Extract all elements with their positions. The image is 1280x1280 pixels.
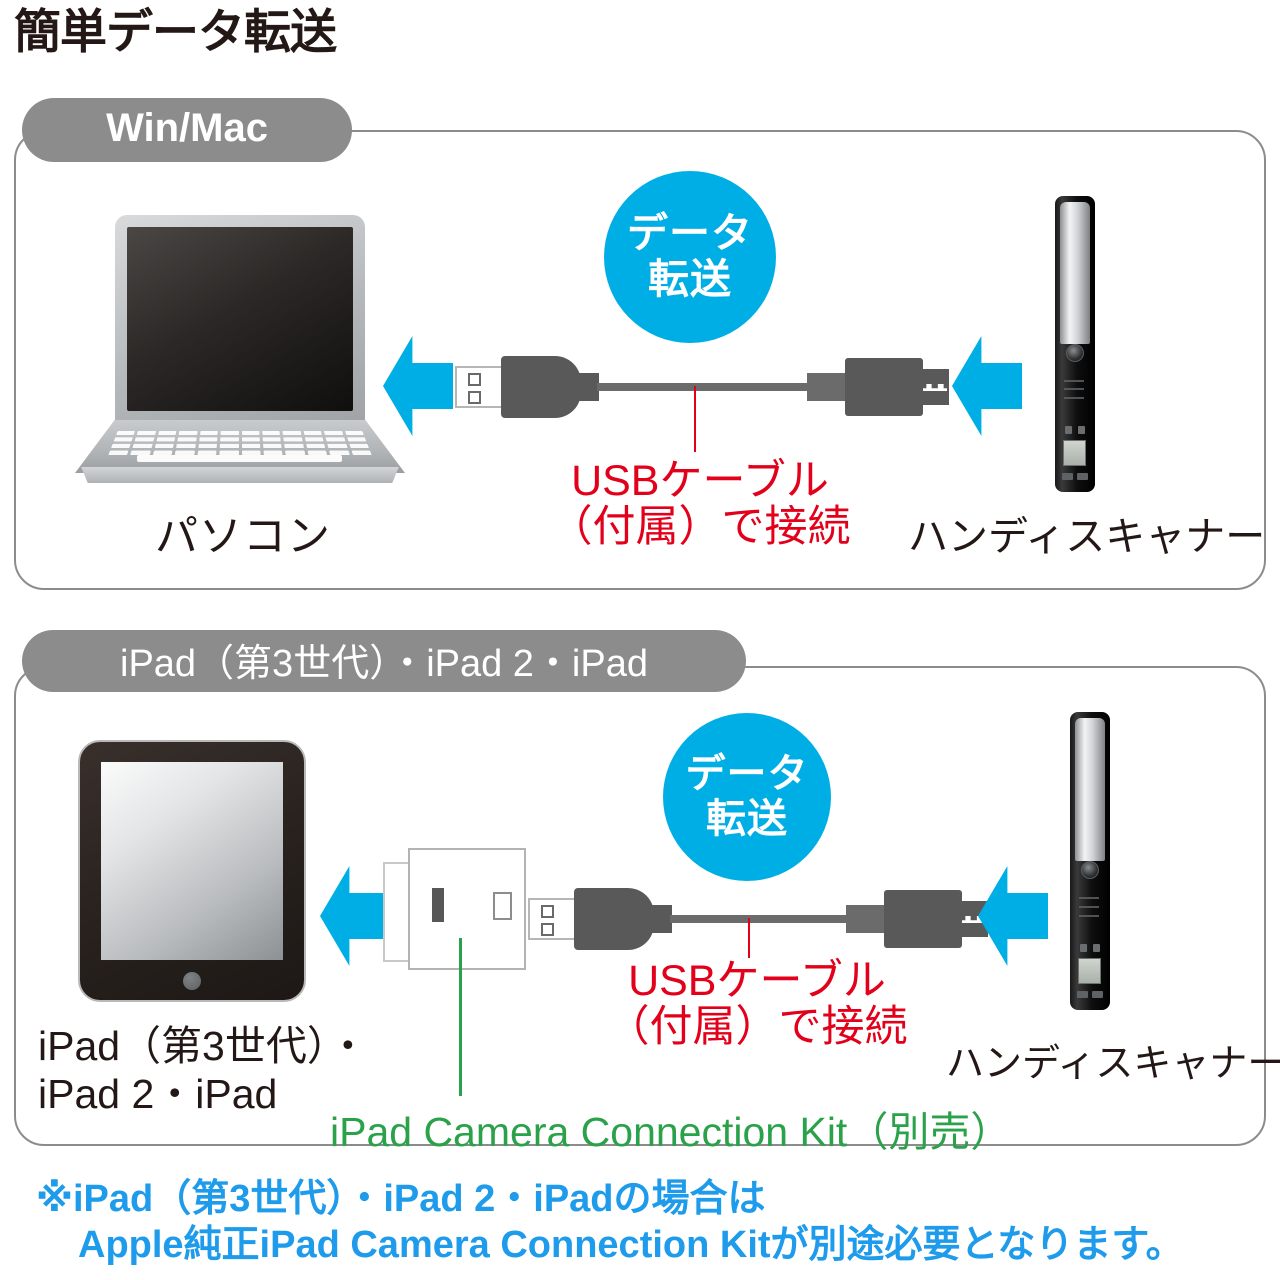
badge-ipad: iPad（第3世代）・iPad 2・iPad	[22, 630, 746, 692]
scanner-scan-button	[1081, 861, 1099, 879]
data-transfer-badge: データ 転送	[604, 171, 776, 343]
usb-a-connector-body	[501, 356, 581, 418]
micro-usb-body	[884, 890, 962, 948]
cable-wire	[670, 915, 860, 923]
keyboard-row	[114, 437, 367, 441]
scanner-lcd-display	[1063, 440, 1086, 466]
data-transfer-line2: 転送	[648, 257, 732, 303]
scanner-scan-button	[1066, 344, 1084, 362]
ipad-home-button	[183, 972, 201, 990]
data-transfer-line2: 転送	[706, 797, 788, 842]
usb-a-connector-neck	[650, 905, 672, 933]
cable-leader-line	[694, 386, 696, 452]
usb-a-connector-tip	[455, 366, 503, 408]
label-handy-scanner-win: ハンディスキャナー	[908, 504, 1265, 562]
cck-usb-port	[493, 892, 512, 920]
usb-cable-note-line2: （付属）で接続	[545, 504, 855, 550]
label-pc: パソコン	[155, 502, 331, 564]
scanner-bar-button	[1077, 473, 1088, 480]
ipad-screen	[101, 762, 283, 960]
diagram-canvas: 簡単データ転送 Win/Mac	[0, 0, 1280, 1280]
scanner-mini-button	[1065, 426, 1072, 434]
usb-a-connector-neck	[577, 373, 599, 401]
laptop-screen	[127, 227, 353, 411]
footnote: ※iPad（第3世代）・iPad 2・iPadの場合は Apple純正iPad …	[36, 1176, 1184, 1269]
data-transfer-badge: データ 転送	[663, 713, 831, 881]
footnote-line2: Apple純正iPad Camera Connection Kitが別途必要とな…	[36, 1222, 1184, 1268]
scanner-mini-button	[1080, 944, 1087, 952]
usb-cable-note: USBケーブル （付属）で接続	[602, 958, 912, 1050]
cable-leader-line	[748, 918, 750, 958]
cck-dock-slot	[432, 888, 444, 922]
ipad-icon	[78, 740, 306, 1002]
camera-connection-kit-icon	[383, 848, 528, 978]
scanner-mini-button	[1078, 426, 1085, 434]
usb-cable-note: USBケーブル （付属）で接続	[545, 458, 855, 550]
handy-scanner-icon	[1070, 712, 1110, 1010]
scanner-silver-section	[1060, 202, 1090, 344]
laptop-spacebar	[137, 455, 342, 462]
keyboard-row	[116, 431, 364, 435]
handy-scanner-icon	[1055, 196, 1095, 492]
usb-cable-note-line1: USBケーブル	[602, 958, 912, 1004]
laptop-keyboard	[108, 431, 372, 456]
label-camera-connection-kit: iPad Camera Connection Kit（別売）	[330, 1098, 1011, 1158]
usb-a-connector-body	[574, 888, 654, 950]
keyboard-row	[111, 444, 369, 448]
scanner-lcd-display	[1078, 958, 1101, 984]
scanner-bar-button	[1077, 991, 1088, 998]
scanner-bar-button	[1062, 473, 1073, 480]
footnote-line1: ※iPad（第3世代）・iPad 2・iPadの場合は	[36, 1178, 766, 1220]
label-ipad-line1: iPad（第3世代）・	[38, 1022, 368, 1070]
micro-usb-tip	[921, 369, 949, 405]
label-ipad-device: iPad（第3世代）・ iPad 2・iPad	[38, 1022, 368, 1119]
usb-cable-note-line2: （付属）で接続	[602, 1004, 912, 1050]
usb-cable-icon	[528, 872, 983, 964]
scanner-mini-button	[1093, 944, 1100, 952]
usb-cable-icon	[455, 340, 945, 432]
laptop-foot	[78, 467, 402, 483]
cable-wire	[597, 383, 819, 391]
cck-leader-line	[459, 938, 462, 1096]
data-transfer-line1: データ	[686, 752, 809, 797]
page-title: 簡単データ転送	[14, 6, 336, 58]
micro-usb-body	[845, 358, 923, 416]
scanner-bar-button	[1092, 991, 1103, 998]
label-handy-scanner-ipad: ハンディスキャナー	[946, 1032, 1280, 1087]
usb-cable-note-line1: USBケーブル	[545, 458, 855, 504]
data-transfer-line1: データ	[627, 211, 753, 257]
usb-a-connector-tip	[528, 898, 576, 940]
label-ipad-line2: iPad 2・iPad	[38, 1070, 368, 1118]
scanner-silver-section	[1075, 718, 1105, 861]
laptop-icon	[75, 215, 405, 490]
badge-win-mac: Win/Mac	[22, 98, 352, 162]
